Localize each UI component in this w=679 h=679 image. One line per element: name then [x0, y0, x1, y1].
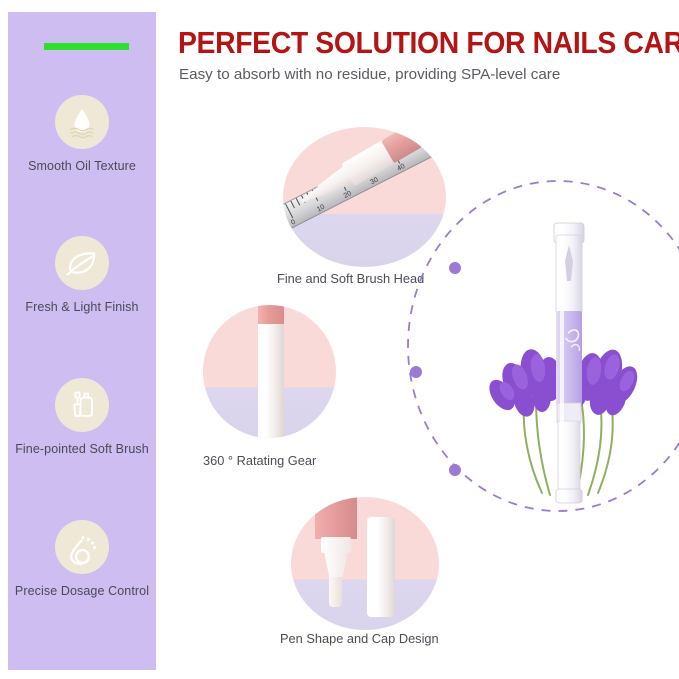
brush-head-scene: 0 10 20 30 40 mm	[283, 127, 446, 267]
pen-cap-photo	[291, 497, 439, 630]
pen-uncapped	[315, 497, 357, 621]
photo-caption: 360 ° Ratating Gear	[203, 453, 316, 468]
leaf-icon	[55, 236, 109, 290]
accent-bar	[44, 43, 129, 50]
ruler: 0 10 20 30 40 mm	[283, 127, 446, 236]
rotating-gear-scene	[203, 305, 336, 438]
pen-cap	[367, 517, 395, 617]
dosage-drop-icon	[55, 520, 109, 574]
sidebar-item-label: Fine-pointed Soft Brush	[8, 442, 156, 456]
ruler-unit: mm	[283, 221, 289, 233]
ruler-label: 0	[290, 219, 297, 227]
photo-caption: Pen Shape and Cap Design	[280, 631, 439, 646]
pen-vertical	[258, 305, 284, 438]
sidebar-item-precise-dosage-control[interactable]: Precise Dosage Control	[8, 520, 156, 598]
rotating-gear-photo	[203, 305, 336, 438]
page-title: PERFECT SOLUTION FOR NAILS CARE	[178, 26, 679, 61]
ruler-label: 40	[396, 163, 406, 173]
page-subtitle: Easy to absorb with no residue, providin…	[179, 66, 560, 83]
sidebar-item-label: Smooth Oil Texture	[8, 159, 156, 173]
sidebar-item-fine-pointed-soft-brush[interactable]: Fine-pointed Soft Brush	[8, 378, 156, 456]
pen-cap-scene	[291, 497, 439, 630]
arc-dot	[410, 366, 422, 378]
ruler-label: 30	[369, 176, 379, 186]
sidebar-item-label: Fresh & Light Finish	[8, 300, 156, 314]
sidebar-item-label: Precise Dosage Control	[8, 584, 156, 598]
brush-head-photo: 0 10 20 30 40 mm	[283, 127, 446, 267]
product-infographic: Smooth Oil Texture Fresh & Light Finish	[0, 0, 679, 679]
sidebar-item-fresh-light-finish[interactable]: Fresh & Light Finish	[8, 236, 156, 314]
oil-drop-icon	[55, 95, 109, 149]
photo-caption: Fine and Soft Brush Head	[277, 271, 424, 286]
sidebar-item-smooth-oil-texture[interactable]: Smooth Oil Texture	[8, 95, 156, 173]
features-sidebar: Smooth Oil Texture Fresh & Light Finish	[8, 12, 156, 670]
nail-brush-icon	[55, 378, 109, 432]
hero-product	[450, 205, 679, 515]
